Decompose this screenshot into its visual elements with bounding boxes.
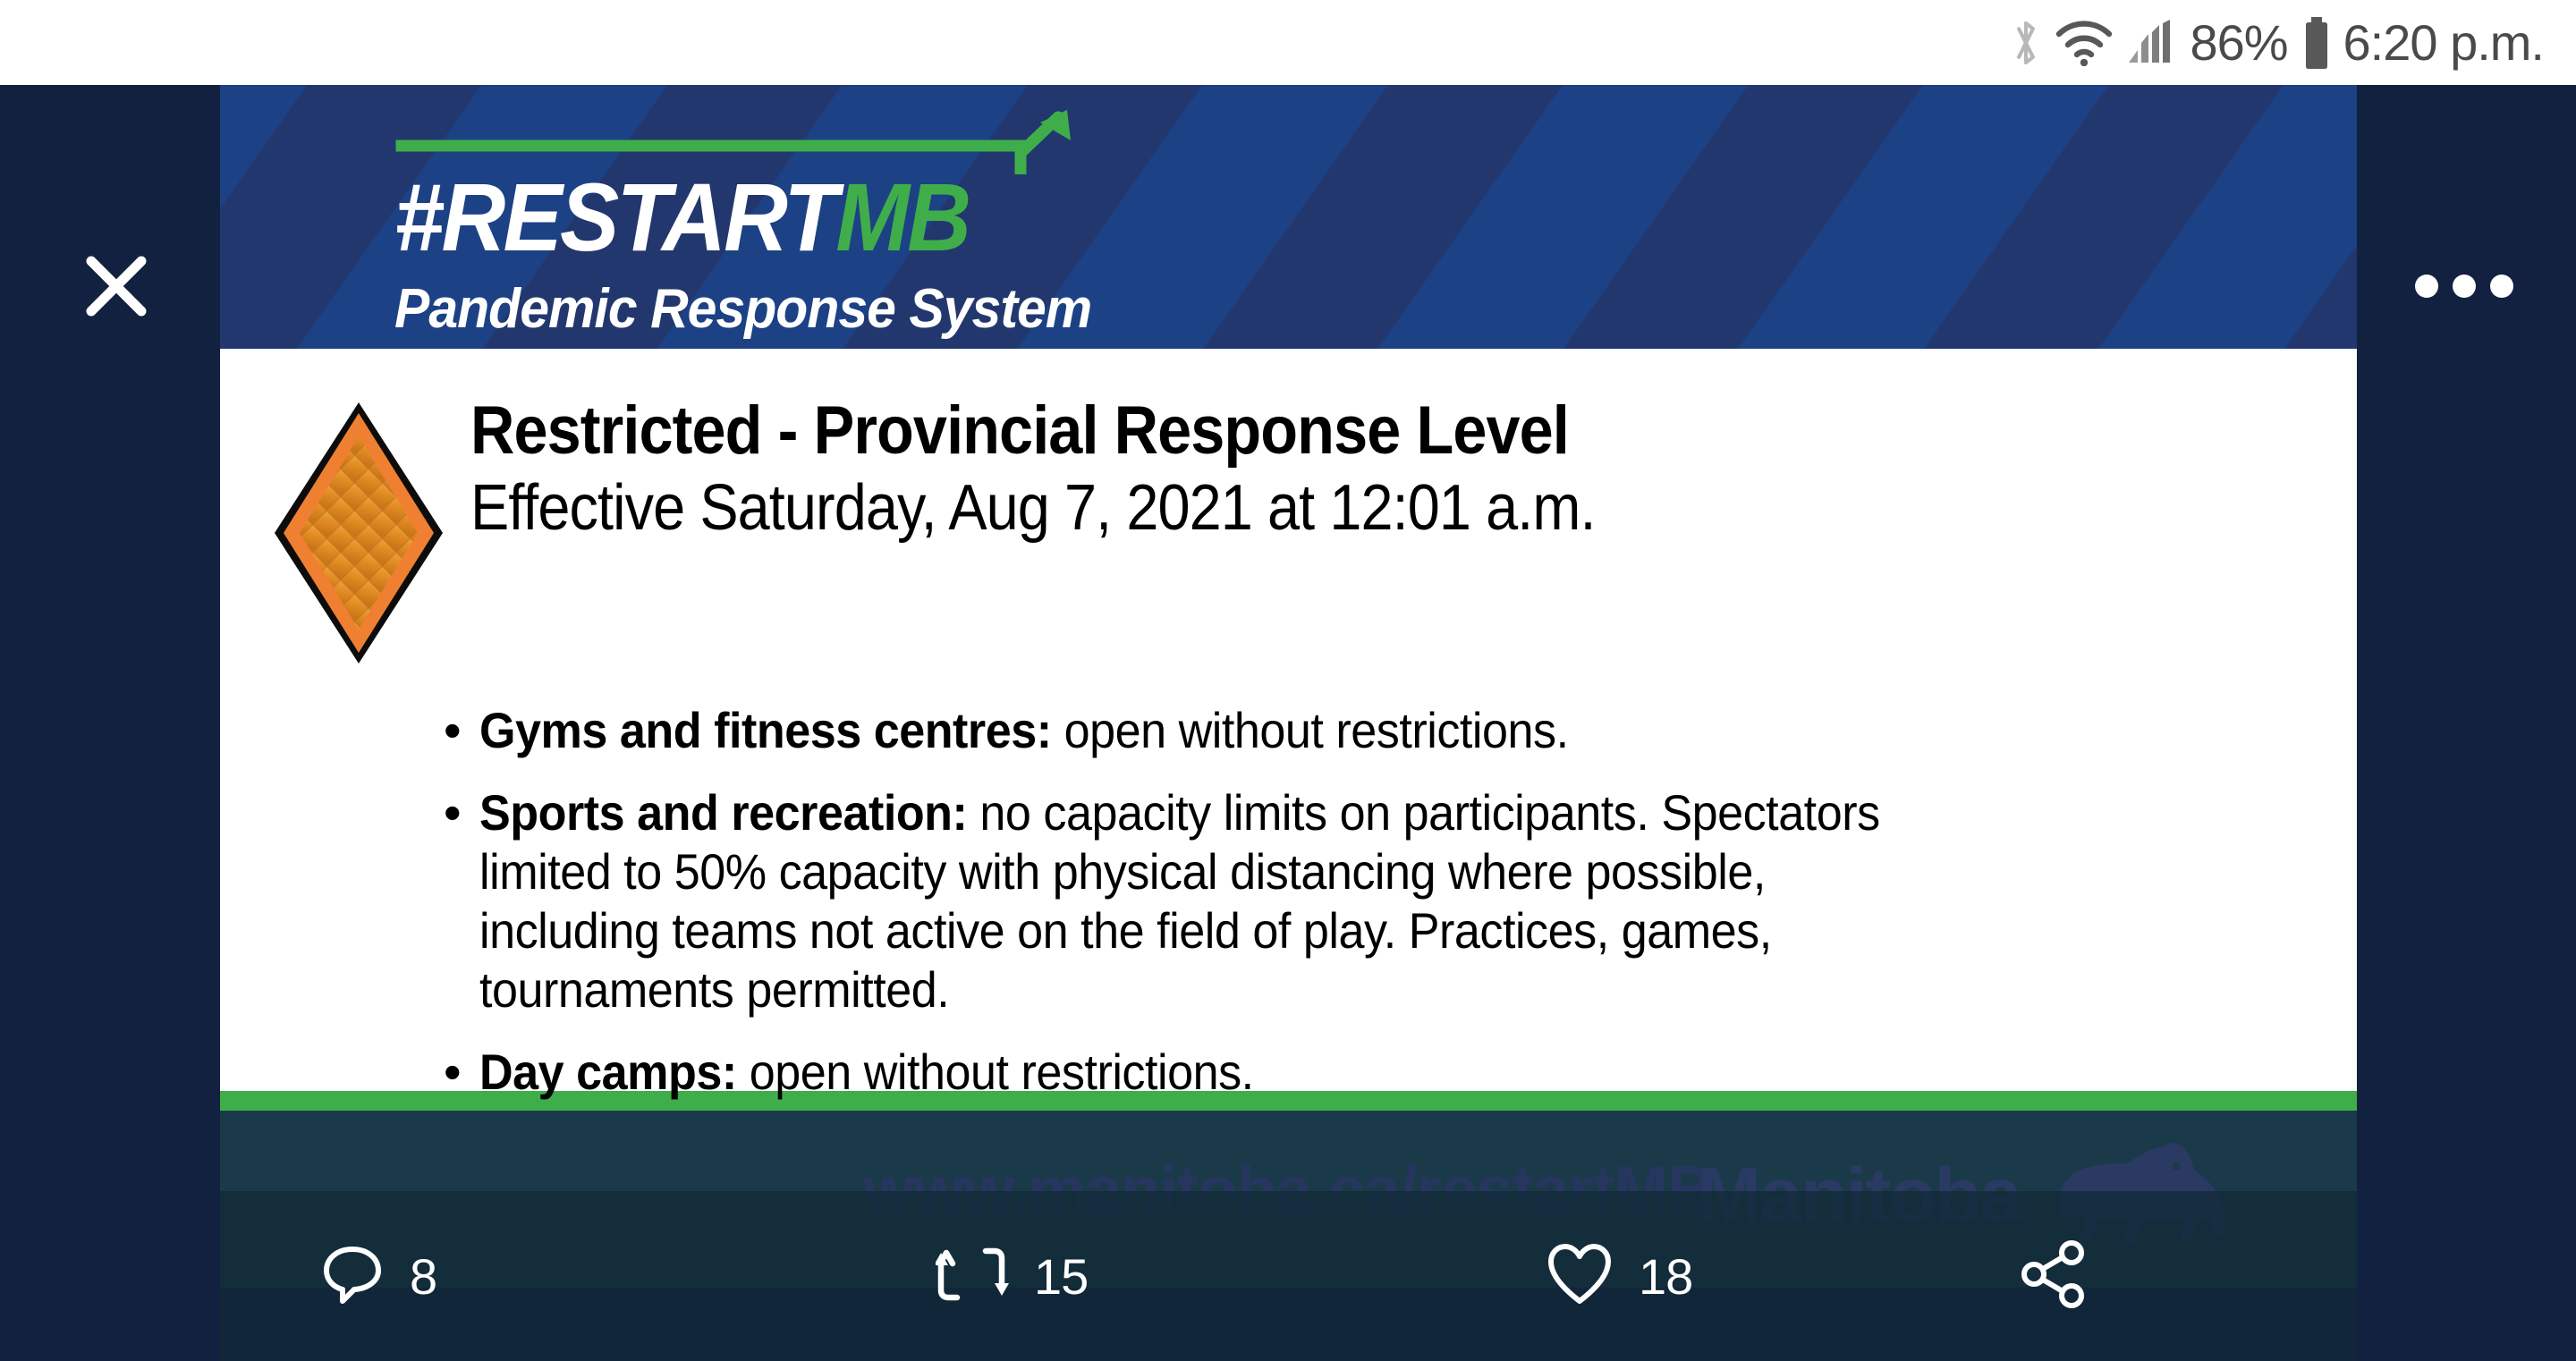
- tweet-action-bar: 8 15 18: [220, 1191, 2357, 1361]
- list-item-body: open without restrictions.: [737, 1044, 1254, 1100]
- battery-percent-label: 86%: [2190, 13, 2287, 72]
- more-dot: [2453, 275, 2476, 298]
- banner-subtitle: Pandemic Response System: [394, 282, 2258, 337]
- share-button[interactable]: [2018, 1238, 2089, 1315]
- cellular-signal-icon: [2125, 20, 2177, 66]
- list-item: • Day camps: open without restrictions.: [444, 1043, 2303, 1102]
- bullet-marker: •: [444, 783, 479, 1019]
- media-viewer: #RESTARTMB Pandemic Response System: [0, 85, 2576, 1288]
- close-icon[interactable]: [63, 232, 170, 340]
- level-header-row: Restricted - Provincial Response Level E…: [220, 392, 2303, 667]
- more-dot: [2415, 275, 2438, 298]
- level-effective-date: Effective Saturday, Aug 7, 2021 at 12:01…: [470, 472, 2120, 545]
- list-item: • Sports and recreation: no capacity lim…: [444, 783, 2303, 1019]
- restartmb-logo: #RESTARTMB: [394, 169, 2199, 266]
- list-item-text: Day camps: open without restrictions.: [479, 1043, 1254, 1102]
- bullet-marker: •: [444, 1043, 479, 1102]
- list-item-body: open without restrictions.: [1052, 702, 1569, 758]
- restartmb-banner: #RESTARTMB Pandemic Response System: [220, 85, 2357, 349]
- clock-label: 6:20 p.m.: [2343, 13, 2544, 72]
- reply-icon: [318, 1240, 386, 1313]
- more-dot: [2490, 275, 2513, 298]
- status-bar: 86% 6:20 p.m.: [0, 0, 2576, 85]
- list-item: • Gyms and fitness centres: open without…: [444, 701, 2303, 760]
- retweet-button[interactable]: 15: [936, 1240, 1088, 1313]
- bluetooth-icon: [2009, 16, 2043, 70]
- retweet-count: 15: [1034, 1247, 1088, 1306]
- share-icon: [2018, 1238, 2089, 1315]
- like-icon: [1544, 1240, 1615, 1313]
- list-item-label: Gyms and fitness centres:: [479, 702, 1052, 758]
- media-card[interactable]: #RESTARTMB Pandemic Response System: [220, 85, 2357, 1288]
- like-count: 18: [1639, 1247, 1692, 1306]
- reply-button[interactable]: 8: [318, 1240, 436, 1313]
- logo-hash-text: #RESTART: [394, 163, 835, 271]
- list-item-label: Day camps:: [479, 1044, 737, 1100]
- list-item-text: Gyms and fitness centres: open without r…: [479, 701, 1569, 760]
- level-title: Restricted - Provincial Response Level: [470, 395, 2120, 467]
- orange-diamond-icon: [247, 392, 470, 667]
- logo-mb-text: MB: [835, 163, 969, 271]
- retweet-icon: [936, 1240, 1011, 1313]
- like-button[interactable]: 18: [1544, 1240, 1692, 1313]
- battery-icon: [2302, 17, 2331, 69]
- card-body: Restricted - Provincial Response Level E…: [220, 349, 2357, 1091]
- bullet-marker: •: [444, 701, 479, 760]
- reply-count: 8: [410, 1247, 436, 1306]
- wifi-icon: [2055, 20, 2113, 66]
- list-item-text: Sports and recreation: no capacity limit…: [479, 783, 1894, 1019]
- list-item-label: Sports and recreation:: [479, 784, 967, 841]
- more-options-icon[interactable]: [2406, 232, 2522, 340]
